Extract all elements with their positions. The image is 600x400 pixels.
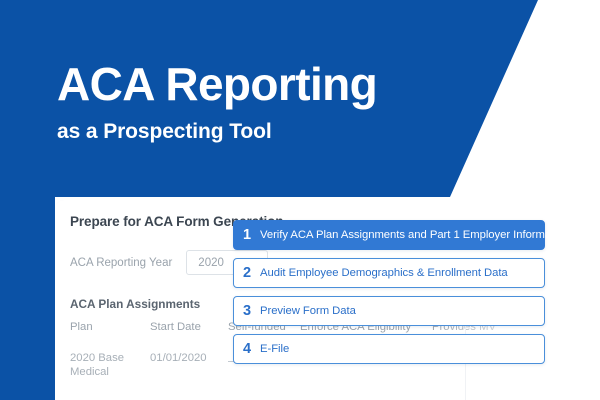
step-label-4: E-File — [260, 343, 289, 355]
step-label-1: Verify ACA Plan Assignments and Part 1 E… — [260, 229, 569, 241]
cell-start-date: 01/01/2020 — [150, 351, 228, 365]
step-label-2: Audit Employee Demographics & Enrollment… — [260, 267, 508, 279]
step-item-3[interactable]: 3 Preview Form Data — [233, 296, 545, 326]
plan-assignments-title: ACA Plan Assignments — [70, 297, 200, 311]
promo-banner: ACA Reporting as a Prospecting Tool Prep… — [0, 0, 600, 400]
step-number-2: 2 — [234, 265, 260, 281]
step-item-4[interactable]: 4 E-File — [233, 334, 545, 364]
column-header-plan: Plan — [70, 321, 150, 333]
cell-plan: 2020 Base Medical — [70, 351, 150, 379]
step-list: 1 Verify ACA Plan Assignments and Part 1… — [233, 220, 545, 364]
step-number-1: 1 — [234, 227, 260, 243]
reporting-year-label: ACA Reporting Year — [70, 257, 172, 269]
step-number-3: 3 — [234, 303, 260, 319]
column-header-start-date: Start Date — [150, 321, 228, 333]
reporting-year-value: 2020 — [198, 257, 224, 269]
step-label-3: Preview Form Data — [260, 305, 356, 317]
step-item-2[interactable]: 2 Audit Employee Demographics & Enrollme… — [233, 258, 545, 288]
step-number-4: 4 — [234, 341, 260, 357]
hero-text-block: ACA Reporting as a Prospecting Tool — [57, 58, 517, 145]
step-item-1[interactable]: 1 Verify ACA Plan Assignments and Part 1… — [233, 220, 545, 250]
page-subtitle: as a Prospecting Tool — [57, 119, 517, 145]
page-title: ACA Reporting — [57, 58, 517, 110]
